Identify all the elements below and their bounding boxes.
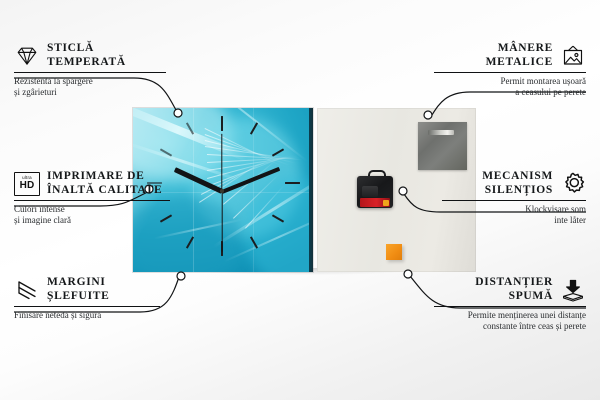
callout-title-line2: ȘLEFUITE — [47, 290, 109, 302]
clock-second-hand — [221, 191, 222, 251]
callout-title: MÂNERE METALICE — [486, 42, 553, 69]
hanger-slot — [428, 130, 454, 135]
callout-rule — [434, 306, 586, 307]
mechanism-dial — [362, 186, 378, 197]
mechanism-body — [357, 176, 393, 208]
metal-hanger-plate — [418, 122, 467, 170]
callout-rule — [14, 306, 160, 307]
callout-sub-line1: Klockvisare som — [525, 204, 586, 214]
product-feature-infographic: STICLĂ TEMPERATĂ Rezistentă la spargere … — [0, 0, 600, 400]
callout-sub-line2: inte låter — [554, 215, 586, 225]
hd-label: HD — [20, 181, 35, 191]
callout-sub-line1: Permite menținerea unei distanțe — [468, 310, 586, 320]
callout-rule — [434, 72, 586, 73]
gear-icon — [560, 171, 586, 197]
clock-hand-cap — [220, 189, 224, 193]
callout-title-line2: METALICE — [486, 56, 553, 68]
callout-subtitle: Culori intense și imagine clară — [14, 204, 170, 226]
wall-mount-icon — [560, 43, 586, 69]
callout-subtitle: Rezistentă la spargere și zgârieturi — [14, 76, 166, 98]
clock-tick — [285, 182, 300, 184]
foam-spacer-icon — [560, 277, 586, 303]
callout-title-line2: SPUMĂ — [509, 290, 553, 302]
callout-head: STICLĂ TEMPERATĂ — [14, 42, 166, 69]
callout-title-line1: DISTANȚIER — [475, 276, 553, 288]
callout-head: MECANISM SILENȚIOS — [442, 170, 586, 197]
product-photo — [133, 108, 476, 272]
callout-subtitle: Permit montarea ușoară a ceasului pe per… — [434, 76, 586, 98]
callout-rule — [14, 200, 170, 201]
callout-sub-line2: și imagine clară — [14, 215, 71, 225]
callout-rule — [14, 72, 166, 73]
callout-head: MARGINI ȘLEFUITE — [14, 276, 160, 303]
callout-title: STICLĂ TEMPERATĂ — [47, 42, 126, 69]
callout-title: IMPRIMARE DE ÎNALTĂ CALITATE — [47, 170, 162, 197]
callout-subtitle: Klockvisare som inte låter — [442, 204, 586, 226]
clock-tick — [221, 116, 223, 131]
callout-subtitle: Permite menținerea unei distanțe constan… — [434, 310, 586, 332]
callout-silent-mechanism: MECANISM SILENȚIOS Klockvisare som inte … — [442, 170, 586, 226]
callout-foam-spacer: DISTANȚIER SPUMĂ Permite menținerea unei… — [434, 276, 586, 332]
callout-head: DISTANȚIER SPUMĂ — [434, 276, 586, 303]
callout-polished-edges: MARGINI ȘLEFUITE Finisare netedă și sigu… — [14, 276, 160, 321]
callout-sub-line2: și zgârieturi — [14, 87, 57, 97]
callout-sub-line1: Permit montarea ușoară — [501, 76, 586, 86]
callout-sub-line1: Culori intense — [14, 204, 65, 214]
callout-title-line2: SILENȚIOS — [485, 184, 553, 196]
callout-title-line1: IMPRIMARE DE — [47, 170, 145, 182]
callout-title: MARGINI ȘLEFUITE — [47, 276, 109, 303]
callout-title-line1: MECANISM — [482, 170, 553, 182]
callout-high-quality-print: ultra HD IMPRIMARE DE ÎNALTĂ CALITATE Cu… — [14, 170, 170, 226]
callout-title-line1: STICLĂ — [47, 42, 94, 54]
callout-title: MECANISM SILENȚIOS — [482, 170, 553, 197]
glass-panel-edge — [309, 108, 313, 272]
callout-head: MÂNERE METALICE — [434, 42, 586, 69]
callout-title-line2: ÎNALTĂ CALITATE — [47, 184, 162, 196]
callout-head: ultra HD IMPRIMARE DE ÎNALTĂ CALITATE — [14, 170, 170, 197]
callout-subtitle: Finisare netedă și sigură — [14, 310, 160, 321]
callout-metal-handles: MÂNERE METALICE Permit montarea ușoară a… — [434, 42, 586, 98]
diamond-icon — [14, 43, 40, 69]
battery — [360, 198, 390, 207]
ultra-hd-icon: ultra HD — [14, 171, 40, 197]
clock-mechanism — [357, 170, 393, 208]
battery-terminal — [383, 200, 389, 206]
callout-tempered-glass: STICLĂ TEMPERATĂ Rezistentă la spargere … — [14, 42, 166, 98]
callout-sub-line1: Rezistentă la spargere — [14, 76, 93, 86]
foam-spacer-pad — [386, 244, 402, 260]
polished-edges-icon — [14, 277, 40, 303]
callout-title-line2: TEMPERATĂ — [47, 56, 126, 68]
callout-sub-line1: Finisare netedă și sigură — [14, 310, 101, 320]
callout-title: DISTANȚIER SPUMĂ — [475, 276, 553, 303]
callout-title-line1: MARGINI — [47, 276, 106, 288]
callout-title-line1: MÂNERE — [498, 42, 553, 54]
callout-sub-line2: a ceasului pe perete — [515, 87, 586, 97]
callout-sub-line2: constante între ceas și perete — [483, 321, 586, 331]
callout-rule — [442, 200, 586, 201]
